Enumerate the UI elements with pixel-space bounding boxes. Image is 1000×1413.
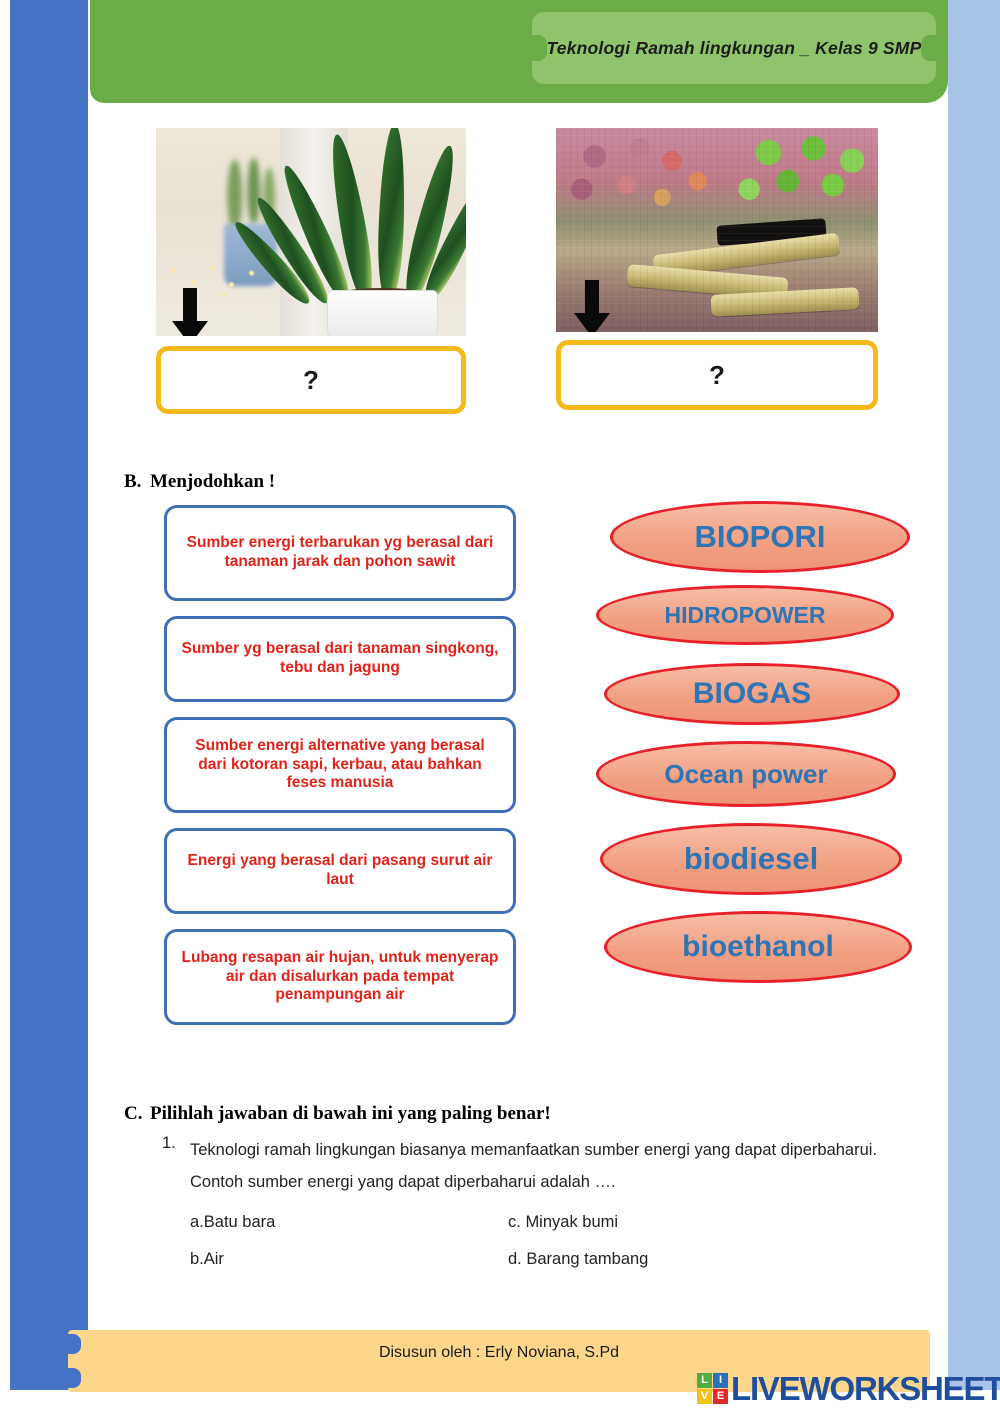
header-title-plate: Teknologi Ramah lingkungan _ Kelas 9 SMP xyxy=(532,12,936,84)
snake-plant-photo xyxy=(156,128,466,336)
match-answer-biodiesel[interactable]: biodiesel xyxy=(600,823,902,895)
match-description-4[interactable]: Energi yang berasal dari pasang surut ai… xyxy=(164,828,516,914)
option-d[interactable]: d. Barang tambang xyxy=(508,1241,648,1278)
question-1-number: 1. xyxy=(162,1134,190,1198)
option-d-label: d. xyxy=(508,1250,522,1268)
match-description-3[interactable]: Sumber energi alternative yang berasal d… xyxy=(164,717,516,813)
match-answer-hidropower[interactable]: HIDROPOWER xyxy=(596,585,894,645)
logo-tile-e: E xyxy=(713,1389,728,1404)
match-answer-bioethanol[interactable]: bioethanol xyxy=(604,911,912,983)
match-answer-biopori[interactable]: BIOPORI xyxy=(610,501,910,573)
option-a[interactable]: a.Batu bara xyxy=(190,1204,508,1241)
option-d-text: Barang tambang xyxy=(526,1250,648,1268)
option-c-text: Minyak bumi xyxy=(525,1213,618,1231)
down-arrow-icon xyxy=(170,288,210,336)
question-1-text: Teknologi ramah lingkungan biasanya mema… xyxy=(190,1134,924,1198)
page-title: Teknologi Ramah lingkungan _ Kelas 9 SMP xyxy=(547,38,922,59)
option-b[interactable]: b.Air xyxy=(190,1241,508,1278)
section-b-heading: B.Menjodohkan ! xyxy=(124,471,275,493)
section-c-title: Pilihlah jawaban di bawah ini yang palin… xyxy=(150,1103,551,1124)
section-c: C.Pilihlah jawaban di bawah ini yang pal… xyxy=(124,1103,924,1279)
matching-answers-column: BIOPORI HIDROPOWER BIOGAS Ocean power bi… xyxy=(596,501,926,995)
liveworksheets-tiles-icon: L I V E xyxy=(697,1373,728,1404)
option-b-text: Air xyxy=(204,1250,224,1268)
worksheet-page: Teknologi Ramah lingkungan _ Kelas 9 SMP xyxy=(0,0,1000,1413)
picture-task-item-2: ? xyxy=(556,128,878,410)
picture-task-item-1: ? xyxy=(156,128,466,414)
match-answer-biogas[interactable]: BIOGAS xyxy=(604,663,900,725)
question-1-options: a.Batu bara c. Minyak bumi b.Air d. Bara… xyxy=(190,1204,924,1278)
left-decorative-band xyxy=(10,0,88,1390)
down-arrow-icon xyxy=(572,280,612,332)
liveworksheets-logo[interactable]: L I V E LIVEWORKSHEETS xyxy=(697,1372,1000,1405)
liveworksheets-wordmark: LIVEWORKSHEETS xyxy=(731,1372,1000,1405)
picture-task-row: ? ? xyxy=(88,103,948,423)
match-description-2[interactable]: Sumber yg berasal dari tanaman singkong,… xyxy=(164,616,516,702)
option-row-bd: b.Air d. Barang tambang xyxy=(190,1241,924,1278)
logo-tile-l: L xyxy=(697,1373,712,1388)
question-1: 1. Teknologi ramah lingkungan biasanya m… xyxy=(162,1134,924,1198)
answer-input-2[interactable]: ? xyxy=(556,340,878,410)
match-description-1[interactable]: Sumber energi terbarukan yg berasal dari… xyxy=(164,505,516,601)
option-a-text: Batu bara xyxy=(204,1213,276,1231)
option-c[interactable]: c. Minyak bumi xyxy=(508,1204,618,1241)
logo-tile-i: I xyxy=(713,1373,728,1388)
match-answer-ocean-power[interactable]: Ocean power xyxy=(596,741,896,807)
option-b-label: b. xyxy=(190,1250,204,1268)
worksheet-body: ? ? xyxy=(88,103,948,1325)
option-c-label: c. xyxy=(508,1213,521,1231)
option-row-ac: a.Batu bara c. Minyak bumi xyxy=(190,1204,924,1241)
page-header-bar: Teknologi Ramah lingkungan _ Kelas 9 SMP xyxy=(90,0,948,103)
section-b-letter: B. xyxy=(124,471,150,493)
section-c-letter: C. xyxy=(124,1103,150,1125)
section-c-heading: C.Pilihlah jawaban di bawah ini yang pal… xyxy=(124,1103,924,1125)
answer-input-1[interactable]: ? xyxy=(156,346,466,414)
market-produce-photo xyxy=(556,128,878,332)
matching-descriptions-column: Sumber energi terbarukan yg berasal dari… xyxy=(164,505,516,1040)
right-decorative-band xyxy=(948,0,1000,1390)
logo-tile-v: V xyxy=(697,1389,712,1404)
match-description-5[interactable]: Lubang resapan air hujan, untuk menyerap… xyxy=(164,929,516,1025)
section-b-title: Menjodohkan ! xyxy=(150,471,275,492)
option-a-label: a. xyxy=(190,1213,204,1231)
